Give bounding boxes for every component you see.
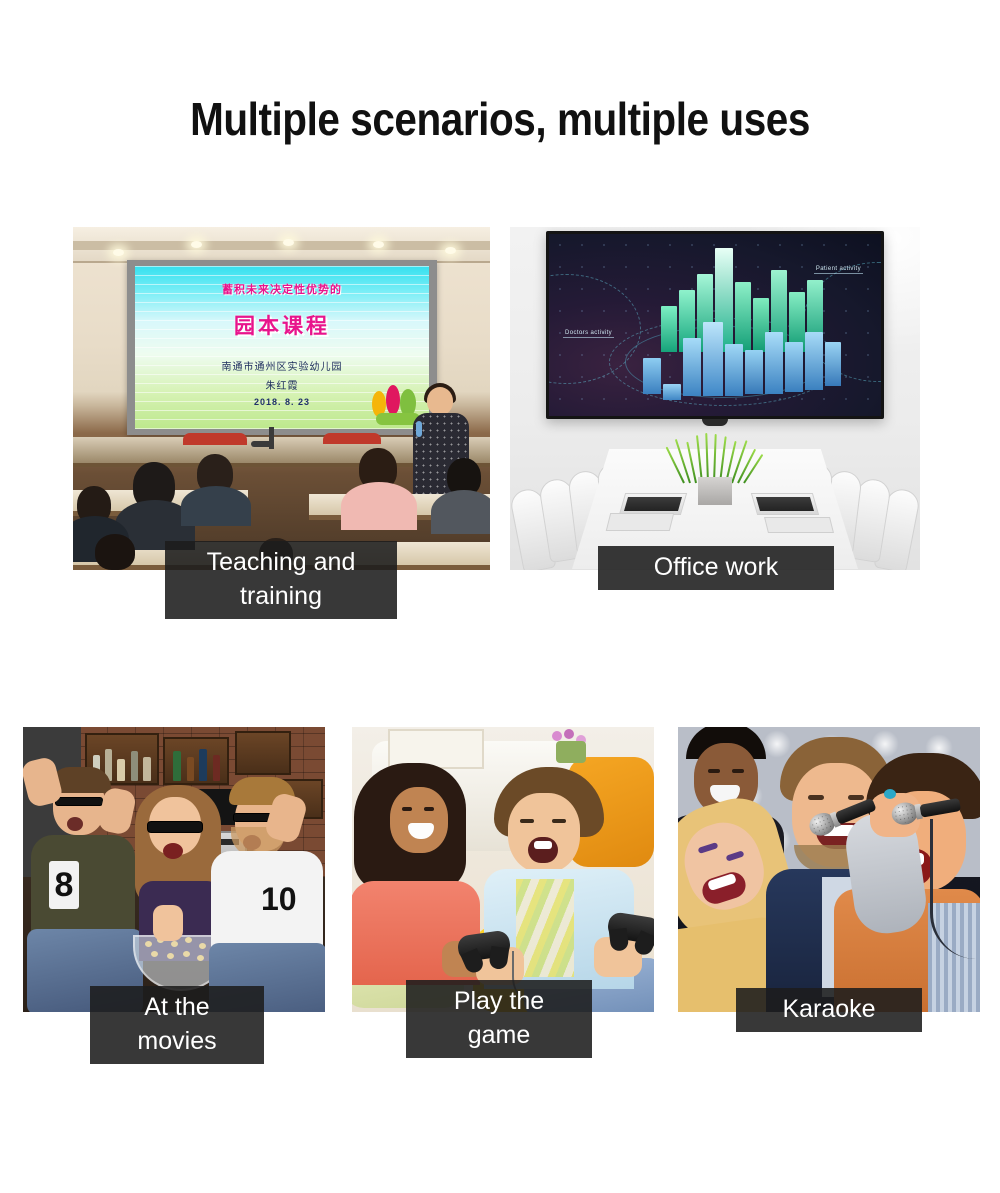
caption-karaoke: Karaoke: [736, 988, 922, 1032]
shelf-unit: [235, 731, 291, 775]
tv-screen-3d-bar-chart: Doctors activity Patient activity: [549, 234, 881, 416]
slide-line-3: 南通市通州区实验幼儿园: [135, 358, 429, 373]
notepad-right: [764, 517, 834, 533]
photo-kids-gaming: [352, 727, 654, 1012]
scenario-card-karaoke[interactable]: Karaoke: [678, 727, 980, 1012]
photo-karaoke-singers: [678, 727, 980, 1012]
scenario-card-office[interactable]: Doctors activity Patient activity: [510, 227, 920, 570]
photo-teaching-classroom: 蓄积未来决定性优势的 园本课程 南通市通州区实验幼儿园 朱红霞 2018. 8.…: [73, 227, 490, 570]
caption-game: Play the game: [406, 980, 592, 1058]
gamepad-right: [606, 911, 654, 945]
projection-screen: 蓄积未来决定性优势的 园本课程 南通市通州区实验幼儿园 朱红霞 2018. 8.…: [127, 260, 437, 435]
caption-movies: At the movies: [90, 986, 264, 1064]
scenarios-page: Multiple scenarios, multiple uses 蓄积未来决定…: [0, 0, 1000, 1193]
chart-label-patient: Patient activity: [814, 266, 863, 274]
photo-friends-3d-glasses: 8: [23, 727, 325, 1012]
photo-office-conference-room: Doctors activity Patient activity: [510, 227, 920, 570]
scenario-card-teaching[interactable]: 蓄积未来决定性优势的 园本课程 南通市通州区实验幼儿园 朱红霞 2018. 8.…: [73, 227, 490, 570]
laptop-left: [619, 493, 687, 515]
person-right: 10: [209, 771, 325, 1012]
flower-vase: [548, 729, 596, 763]
scenario-card-movies[interactable]: 8: [23, 727, 325, 1012]
scenario-card-game[interactable]: Play the game: [352, 727, 654, 1012]
caption-teaching: Teaching and training: [165, 541, 397, 619]
page-title: Multiple scenarios, multiple uses: [60, 92, 940, 146]
plant-grass: [679, 433, 751, 483]
caption-office: Office work: [598, 546, 834, 590]
wall-mounted-tv: Doctors activity Patient activity: [546, 231, 884, 419]
notepad-left: [606, 513, 674, 531]
slide-line-1: 蓄积未来决定性优势的: [135, 281, 429, 297]
mic-cable: [930, 819, 976, 959]
plant-pot: [698, 477, 732, 505]
laptop-right: [751, 493, 819, 515]
presentation-slide: 蓄积未来决定性优势的 园本课程 南通市通州区实验幼儿园 朱红霞 2018. 8.…: [135, 266, 429, 429]
chart-label-doctors: Doctors activity: [563, 330, 614, 338]
slide-line-2: 园本课程: [135, 310, 429, 340]
